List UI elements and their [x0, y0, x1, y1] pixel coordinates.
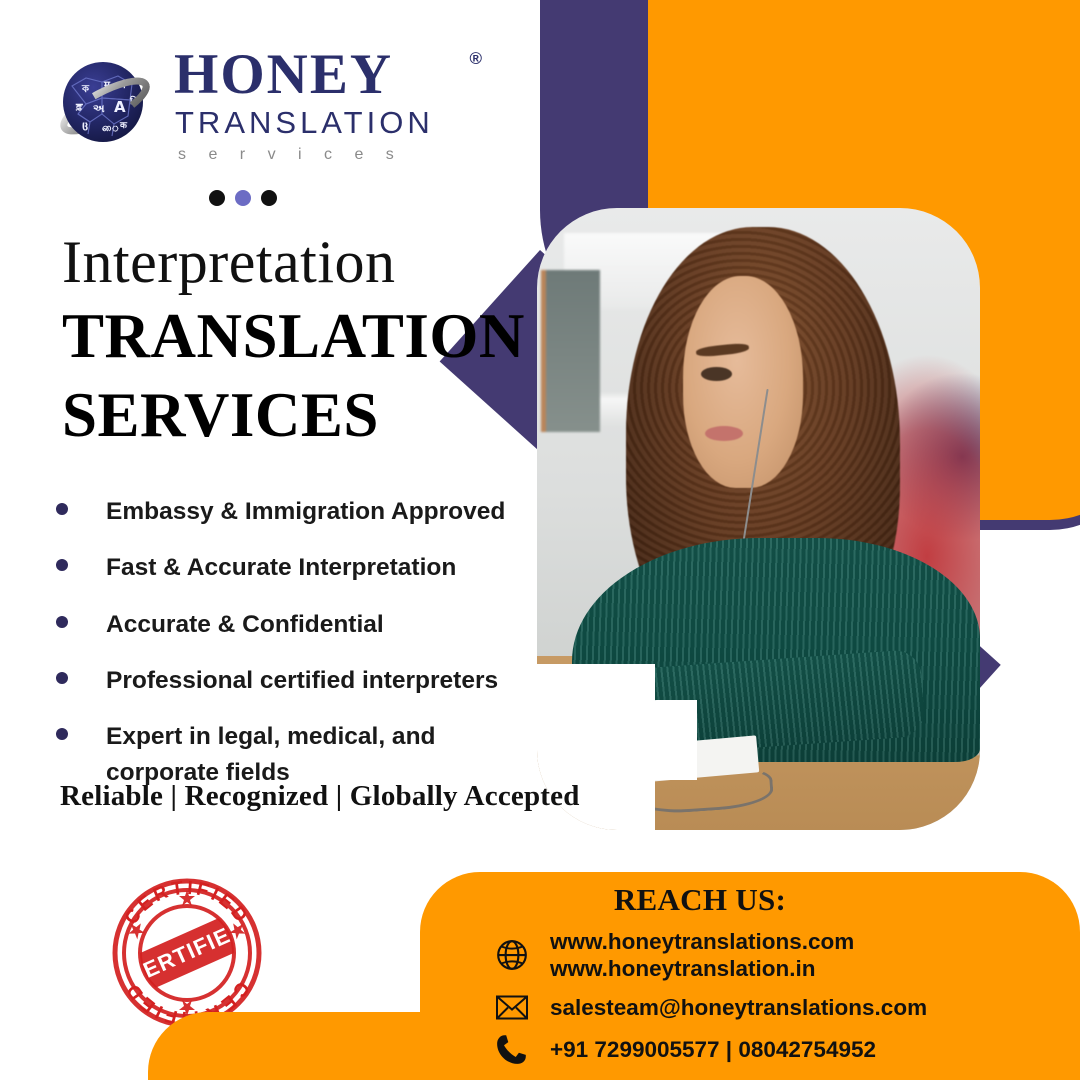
list-item-label: Embassy & Immigration Approved — [106, 494, 505, 530]
svg-text:ை: ை — [102, 123, 119, 134]
contact-row-email[interactable]: salesteam@honeytranslations.com — [492, 994, 1052, 1021]
list-item-label: Accurate & Confidential — [106, 607, 384, 643]
certified-stamp-icon: CERTIFIED CERTIFIED CERTIFIED — [106, 872, 268, 1034]
globe-icon — [492, 938, 532, 972]
svg-text:A: A — [114, 98, 126, 116]
contact-email-values: salesteam@honeytranslations.com — [550, 994, 927, 1021]
contact-title: REACH US: — [420, 882, 980, 918]
list-item: Embassy & Immigration Approved — [56, 494, 526, 530]
photo-notch-curve — [617, 700, 697, 780]
dot-1 — [209, 190, 225, 206]
logo-name: HONEY ® — [174, 46, 464, 103]
email-line-1[interactable]: salesteam@honeytranslations.com — [550, 994, 927, 1021]
svg-text:ক: ক — [81, 84, 90, 95]
feature-list: Embassy & Immigration Approved Fast & Ac… — [56, 494, 526, 812]
contact-list: www.honeytranslations.com www.honeytrans… — [492, 928, 1052, 1077]
bullet-dot-icon — [56, 728, 68, 740]
list-item: Fast & Accurate Interpretation — [56, 550, 526, 586]
headline-script: Interpretation — [62, 232, 532, 293]
contact-website-values: www.honeytranslations.com www.honeytrans… — [550, 928, 854, 983]
dot-2 — [235, 190, 251, 206]
logo-name-text: HONEY — [174, 43, 393, 106]
headline-main-line-1: TRANSLATION — [62, 301, 532, 372]
envelope-icon — [492, 994, 532, 1021]
svg-text:ც: ც — [82, 120, 88, 131]
dot-3 — [261, 190, 277, 206]
contact-row-phone[interactable]: +91 7299005577 | 08042754952 — [492, 1032, 1052, 1066]
registered-trademark-icon: ® — [469, 50, 484, 67]
list-item-label: Professional certified interpreters — [106, 663, 498, 699]
list-item: Professional certified interpreters — [56, 663, 526, 699]
headline-main-line-2: SERVICES — [62, 380, 532, 451]
bullet-dot-icon — [56, 503, 68, 515]
website-line-2[interactable]: www.honeytranslation.in — [550, 955, 854, 982]
headline-block: Interpretation TRANSLATION SERVICES — [62, 232, 532, 450]
orange-panel-step — [148, 1012, 448, 1080]
globe-languages-icon: ক म । ਫ਼ અ A ि ც ை क — [52, 52, 158, 158]
bullet-dot-icon — [56, 672, 68, 684]
svg-text:ਫ਼: ਫ਼ — [75, 102, 83, 113]
logo-line-services: s e r v i c e s — [178, 147, 464, 163]
list-item: Accurate & Confidential — [56, 607, 526, 643]
brand-logo[interactable]: ক म । ਫ਼ અ A ि ც ை क HONEY ® TRANSLATION — [52, 46, 452, 176]
phone-line-1[interactable]: +91 7299005577 | 08042754952 — [550, 1036, 876, 1063]
decorative-dots — [209, 190, 277, 206]
website-line-1[interactable]: www.honeytranslations.com — [550, 928, 854, 955]
logo-line-translation: TRANSLATION — [175, 107, 464, 138]
svg-text:અ: અ — [93, 102, 105, 115]
phone-icon — [492, 1032, 532, 1066]
contact-row-website[interactable]: www.honeytranslations.com www.honeytrans… — [492, 928, 1052, 983]
list-item-label: Fast & Accurate Interpretation — [106, 550, 456, 586]
svg-text:क: क — [119, 121, 128, 131]
contact-phone-values: +91 7299005577 | 08042754952 — [550, 1036, 876, 1063]
poster-canvas: ক म । ਫ਼ અ A ि ც ை क HONEY ® TRANSLATION — [0, 0, 1080, 1080]
bullet-dot-icon — [56, 616, 68, 628]
svg-text:CERTIFIED: CERTIFIED — [121, 878, 253, 929]
bullet-dot-icon — [56, 559, 68, 571]
tagline: Reliable | Recognized | Globally Accepte… — [60, 780, 580, 813]
